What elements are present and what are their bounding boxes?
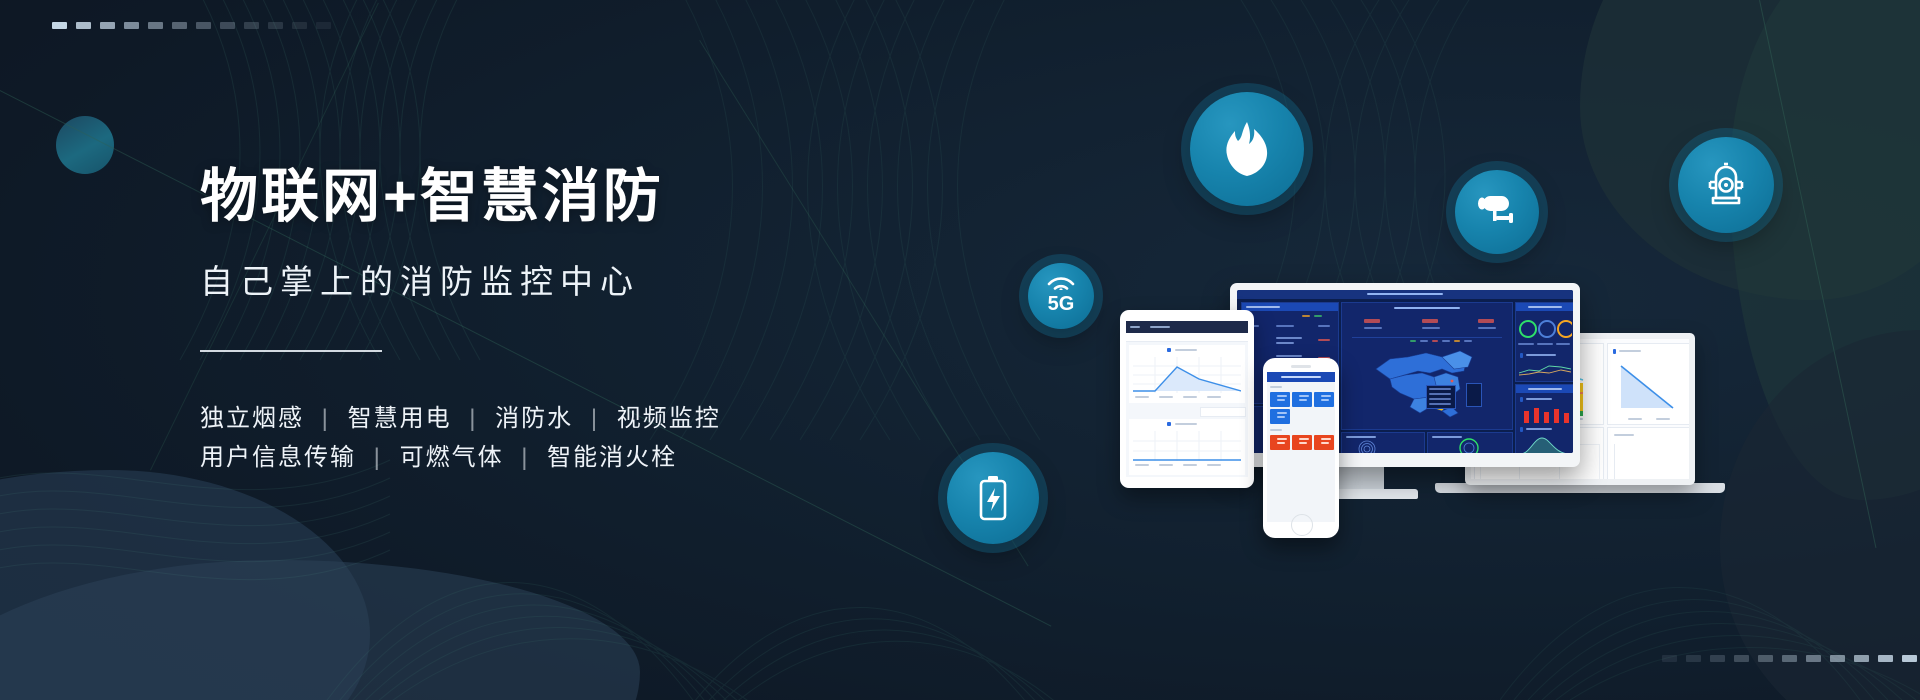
hydrant-icon-badge[interactable]	[1678, 137, 1774, 233]
divider-rule	[200, 350, 382, 352]
monitor-neck	[1338, 467, 1384, 491]
tablet-device	[1120, 310, 1254, 488]
dash-mark	[1806, 655, 1821, 662]
dash-mark	[268, 22, 283, 29]
dash-mark	[76, 22, 91, 29]
monitor-radar-panel-1	[1341, 432, 1425, 453]
laptop-line-card	[1607, 427, 1689, 479]
hero-copy: 物联网+智慧消防 自己掌上的消防监控中心 独立烟感 | 智慧用电 | 消防水 |…	[200, 165, 960, 478]
dash-row-top-left	[52, 22, 331, 29]
decor-mesh-bottom-left	[0, 440, 410, 700]
feature-line-2: 用户信息传输 | 可燃气体 | 智能消火栓	[200, 439, 960, 478]
monitor-map-panel	[1341, 302, 1513, 430]
dash-mark	[1710, 655, 1725, 662]
dash-row-bottom-right	[1662, 655, 1920, 662]
tablet-screen	[1126, 321, 1248, 477]
flame-icon-badge[interactable]	[1190, 92, 1304, 206]
camera-icon	[1474, 192, 1520, 232]
feature-separator: |	[365, 444, 391, 471]
dash-mark	[148, 22, 163, 29]
feature-item: 智能消火栓	[547, 444, 677, 471]
banner-root: 物联网+智慧消防 自己掌上的消防监控中心 独立烟感 | 智慧用电 | 消防水 |…	[0, 0, 1920, 700]
dash-mark	[220, 22, 235, 29]
battery-icon	[976, 475, 1010, 521]
dash-mark	[124, 22, 139, 29]
feature-line-1: 独立烟感 | 智慧用电 | 消防水 | 视频监控	[200, 400, 960, 439]
dash-mark	[292, 22, 307, 29]
feature-item: 独立烟感	[200, 405, 304, 432]
feature-item: 可燃气体	[400, 444, 504, 471]
dash-mark	[172, 22, 187, 29]
hydrant-icon	[1702, 160, 1750, 210]
dash-mark	[1830, 655, 1845, 662]
dashboard-header	[1237, 290, 1573, 299]
flame-icon	[1221, 120, 1273, 178]
decor-blob-bottom-left-2	[0, 560, 640, 700]
laptop-area-card	[1607, 343, 1689, 425]
wifi-icon	[1046, 276, 1076, 290]
phone-screen	[1267, 372, 1335, 522]
feature-separator: |	[313, 405, 339, 432]
phone-home-button[interactable]	[1291, 514, 1313, 536]
5g-label: 5G	[1048, 294, 1075, 314]
dash-mark	[1854, 655, 1869, 662]
feature-item: 智慧用电	[348, 405, 452, 432]
dash-mark	[316, 22, 331, 29]
dash-mark	[52, 22, 67, 29]
dash-mark	[244, 22, 259, 29]
camera-icon-badge[interactable]	[1455, 170, 1539, 254]
dash-mark	[1662, 655, 1677, 662]
phone-earpiece	[1291, 365, 1311, 368]
monitor-gauge-panel	[1515, 302, 1573, 382]
tablet-chart-2	[1129, 419, 1245, 475]
dash-mark	[1734, 655, 1749, 662]
page-title: 物联网+智慧消防	[200, 165, 960, 229]
device-cluster	[1120, 285, 1760, 585]
tablet-chart-1	[1129, 345, 1245, 403]
feature-separator: |	[460, 405, 486, 432]
monitor-bar-panel	[1515, 384, 1573, 453]
dash-mark	[100, 22, 115, 29]
page-subtitle: 自己掌上的消防监控中心	[200, 255, 960, 303]
5g-icon-badge[interactable]: 5G	[1028, 263, 1094, 329]
smartphone-device	[1263, 358, 1339, 538]
decor-circle-top-left	[56, 116, 114, 174]
feature-separator: |	[582, 405, 608, 432]
dash-mark	[196, 22, 211, 29]
dash-mark	[1782, 655, 1797, 662]
dash-mark	[1902, 655, 1917, 662]
feature-separator: |	[512, 444, 538, 471]
dash-mark	[1758, 655, 1773, 662]
feature-list: 独立烟感 | 智慧用电 | 消防水 | 视频监控 用户信息传输 | 可燃气体 |…	[200, 400, 960, 478]
monitor-radar-panel-2	[1427, 432, 1513, 453]
feature-item: 消防水	[495, 405, 573, 432]
dash-mark	[1878, 655, 1893, 662]
dash-mark	[1686, 655, 1701, 662]
decor-blob-bottom-left-1	[0, 470, 370, 700]
battery-icon-badge[interactable]	[947, 452, 1039, 544]
feature-item: 视频监控	[617, 405, 721, 432]
feature-item: 用户信息传输	[200, 444, 356, 471]
decor-hairline-3	[1759, 0, 1876, 548]
